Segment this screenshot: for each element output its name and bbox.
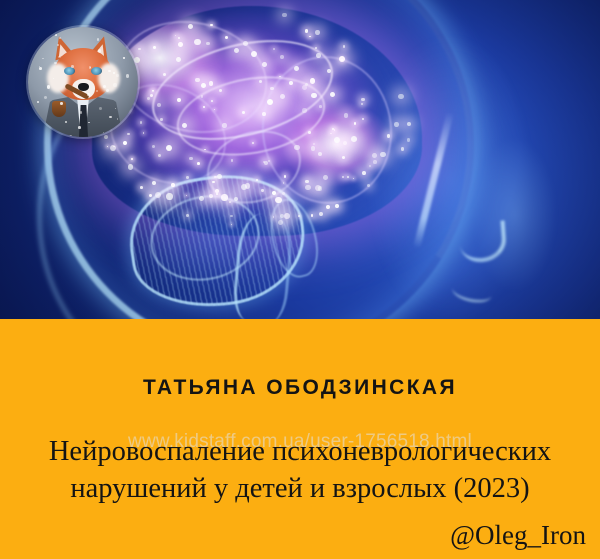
snowflake	[99, 107, 102, 110]
snowflake	[106, 89, 109, 92]
neuron-spark	[394, 122, 399, 127]
fox-eye-left	[64, 67, 75, 75]
neuron-spark	[194, 39, 200, 45]
neuron-spark	[216, 193, 218, 195]
snowflake	[116, 74, 119, 77]
snowflake	[44, 96, 47, 99]
neuron-spark	[334, 137, 340, 143]
neuron-spark	[199, 196, 204, 201]
neuron-spark	[284, 175, 286, 177]
poster: ТАТЬЯНА ОБОДЗИНСКАЯ Нейровоспаление псих…	[0, 0, 600, 559]
neuron-spark	[166, 145, 172, 151]
seller-handle: @Oleg_Iron	[450, 520, 586, 551]
snowflake	[47, 85, 50, 88]
neuron-spark	[361, 103, 363, 105]
neuron-spark	[367, 184, 370, 187]
book-title-line-2: нарушений у детей и взрослых (2023)	[6, 470, 594, 507]
neuron-spark	[189, 157, 192, 160]
snowflake	[39, 67, 42, 70]
neuron-spark	[294, 66, 299, 71]
snowflake	[33, 114, 35, 116]
neuron-spark	[311, 146, 315, 150]
snowflake	[132, 119, 135, 122]
neuron-spark	[289, 81, 293, 85]
author-name: ТАТЬЯНА ОБОДЗИНСКАЯ	[0, 376, 600, 400]
neuron-spark	[283, 182, 284, 183]
snowflake	[41, 37, 44, 40]
neuron-spark	[219, 89, 222, 92]
neuron-spark	[305, 29, 308, 32]
neuron-spark	[222, 123, 226, 127]
snowflake	[128, 132, 131, 135]
snowflake	[126, 74, 129, 77]
neuron-spark	[160, 118, 163, 121]
neuron-spark	[214, 109, 215, 110]
snowflake	[37, 101, 39, 103]
neuron-spark	[131, 158, 133, 160]
neuron-spark	[373, 160, 377, 164]
snowflake	[103, 85, 106, 88]
neuron-spark	[261, 189, 263, 191]
neuron-spark	[407, 138, 411, 142]
neuron-spark	[354, 122, 356, 124]
neuron-spark	[221, 194, 227, 200]
neuron-spark	[241, 184, 247, 190]
neuron-spark	[147, 97, 150, 100]
hero-image	[0, 0, 600, 319]
neuron-spark	[252, 142, 254, 144]
neuron-spark	[264, 161, 268, 165]
avatar[interactable]	[28, 27, 138, 137]
snowflake	[60, 102, 63, 105]
neuron-spark	[341, 59, 343, 61]
book-title-line-1: Нейровоспаление психоневрологических	[6, 433, 594, 470]
snowflake	[98, 49, 101, 52]
neuron-spark	[313, 143, 315, 145]
snowflake	[55, 34, 57, 36]
neuron-spark	[243, 41, 248, 46]
neuron-spark	[150, 94, 153, 97]
neuron-spark	[272, 191, 276, 195]
neuron-spark	[197, 162, 200, 165]
neuron-spark	[178, 42, 183, 47]
snowflake	[33, 134, 36, 137]
snowflake	[69, 135, 72, 137]
neuron-spark	[229, 201, 231, 203]
snowflake	[113, 83, 116, 86]
snowflake	[109, 116, 112, 119]
neuron-spark	[294, 145, 299, 150]
book-title: Нейровоспаление психоневрологических нар…	[6, 433, 594, 507]
neuron-spark	[387, 134, 390, 137]
neuron-spark	[327, 69, 331, 73]
neuron-spark	[343, 45, 346, 48]
neuron-spark	[401, 147, 404, 150]
neuron-spark	[305, 180, 308, 183]
pipe-bowl	[52, 101, 66, 117]
neuron-spark	[186, 176, 189, 179]
neuron-spark	[270, 87, 273, 90]
neuron-spark	[166, 193, 172, 199]
neuron-spark	[316, 53, 321, 58]
neuron-spark	[305, 83, 308, 86]
neuron-spark	[319, 105, 322, 108]
neuron-spark	[214, 176, 216, 178]
neuron-spark	[195, 78, 199, 82]
neuron-spark	[372, 153, 377, 158]
snowflake	[71, 65, 74, 68]
neuron-spark	[140, 186, 143, 189]
snowflake	[123, 57, 124, 58]
neuron-spark	[302, 108, 306, 112]
caption-banner: ТАТЬЯНА ОБОДЗИНСКАЯ Нейровоспаление псих…	[0, 319, 600, 559]
neuron-spark	[140, 121, 142, 123]
neuron-spark	[186, 214, 189, 217]
snowflake	[114, 129, 116, 131]
neuron-spark	[157, 103, 161, 107]
neuron-spark	[407, 122, 411, 126]
snowflake	[28, 113, 29, 114]
neuron-spark	[206, 42, 210, 46]
neuron-spark	[284, 213, 290, 219]
neuron-spark	[153, 46, 156, 49]
neuron-spark	[315, 30, 320, 35]
neuron-spark	[163, 73, 166, 76]
neuron-spark	[275, 197, 281, 203]
neuron-spark	[128, 164, 134, 170]
neuron-spark	[362, 171, 366, 175]
neuron-spark	[344, 113, 348, 117]
neuron-spark	[267, 99, 273, 105]
neuron-spark	[298, 215, 300, 217]
neuron-spark	[361, 98, 364, 101]
snowflake	[80, 111, 83, 114]
snowflake	[78, 126, 81, 129]
snowflake	[42, 58, 43, 59]
snowflake	[131, 45, 134, 48]
neuron-spark	[280, 55, 284, 59]
neuron-spark	[311, 93, 317, 99]
neuron-spark	[123, 141, 127, 145]
neuron-spark	[351, 136, 357, 142]
neuron-spark	[398, 94, 404, 100]
snowflake	[59, 37, 61, 39]
fox-eye-right	[91, 67, 102, 75]
neuron-spark	[262, 112, 266, 116]
fox-cheek-right	[98, 63, 120, 93]
neuron-spark	[210, 24, 212, 26]
